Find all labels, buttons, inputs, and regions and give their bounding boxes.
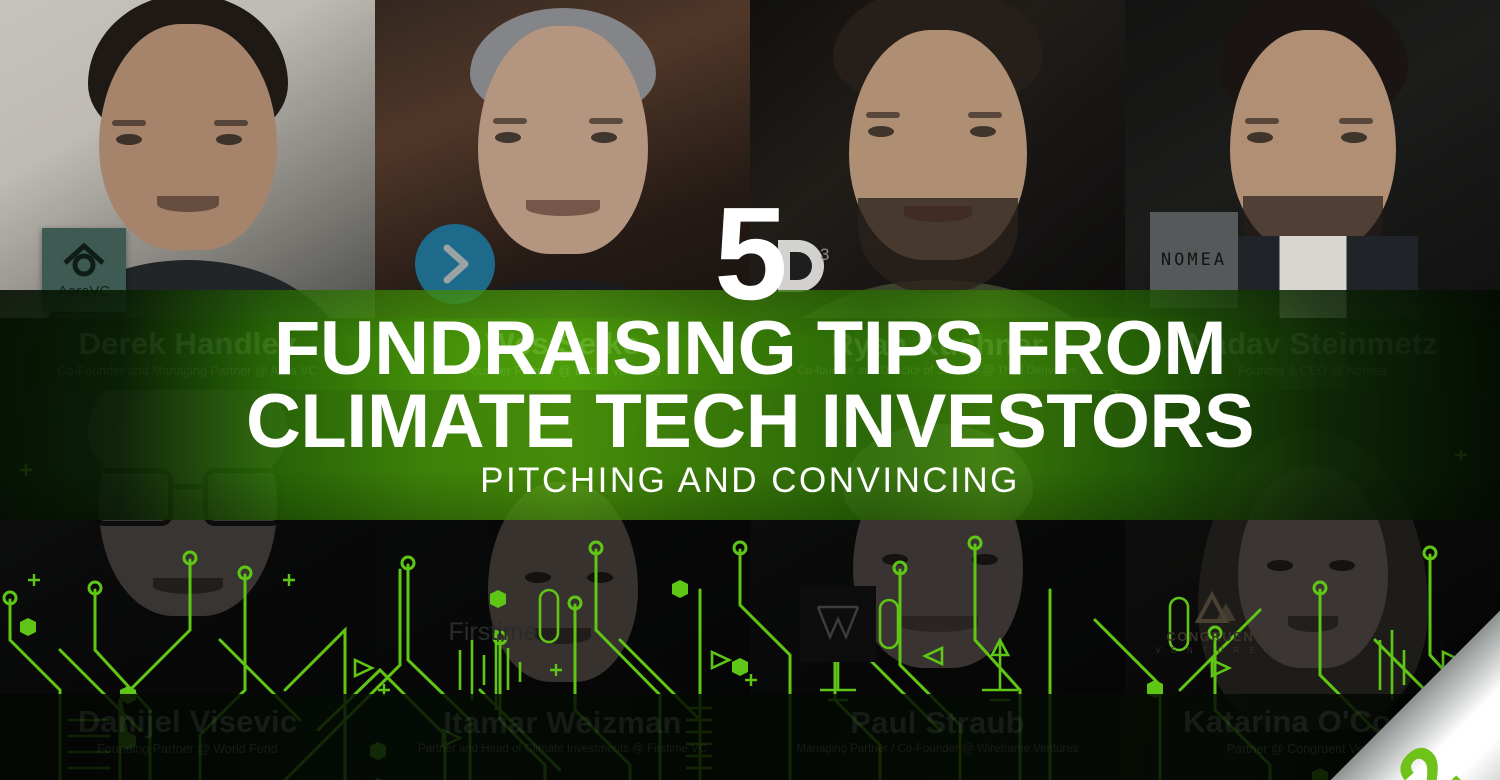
chevron-right-icon [435,241,475,287]
logo-label: CONGRUENT [1166,629,1263,644]
wireframe-w-icon [814,603,862,645]
logo-sublabel: V E N T U R E S [1156,646,1275,655]
poster-canvas: AeraVC 3 NOMEA Firstime CONGRUENT V E N … [0,0,1500,780]
title-green-band [0,290,1500,520]
logo-label: NOMEA [1161,250,1227,270]
logo-badge-firstime: Firstime [418,612,568,652]
logo-label: Firstime [449,618,538,647]
aera-arch-icon [61,241,107,281]
logo-badge-wireframe [800,586,876,662]
logo-badge-congruent: CONGRUENT V E N T U R E S [1150,578,1280,664]
bottom-row-name-strip [0,694,1500,780]
congruent-triangle-icon [1192,587,1238,629]
svg-text:3: 3 [820,245,829,264]
